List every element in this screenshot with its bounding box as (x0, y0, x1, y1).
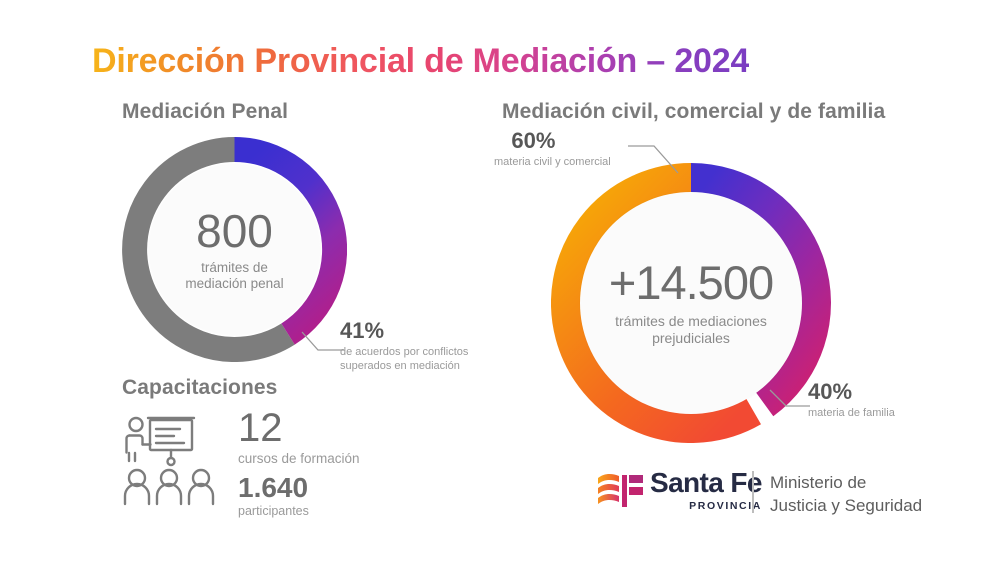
donut-civil-value: +14.500 (609, 259, 773, 306)
capacitaciones-block: 12 cursos de formación 1.640 participant… (120, 412, 420, 517)
provincia-text: PROVINCIA (650, 500, 762, 512)
ministry-line-1: Ministerio de (770, 472, 922, 495)
santa-fe-logo: Santa Fe PROVINCIA Ministerio de Justici… (596, 468, 926, 518)
participants-value: 1.640 (238, 474, 360, 502)
callout-41-desc: de acuerdos por conflictos superados en … (340, 346, 468, 374)
donut-chart-penal: 800 trámites de mediación penal (122, 137, 347, 362)
callout-60-pct: 60% (494, 130, 611, 152)
logo-divider (752, 471, 754, 513)
teacher-whiteboard-icon (127, 418, 195, 465)
three-people-icon (125, 470, 213, 504)
callout-60: 60% materia civil y comercial (494, 130, 611, 170)
capacitaciones-icons (120, 412, 225, 512)
section-heading-capacitaciones: Capacitaciones (122, 376, 277, 400)
donut-penal-label-l2: mediación penal (185, 276, 283, 292)
santa-fe-text: Santa Fe (650, 469, 762, 497)
callout-41-desc-l2: superados en mediación (340, 360, 468, 374)
courses-value: 12 (238, 408, 360, 448)
donut-civil-center: +14.500 trámites de mediaciones prejudic… (580, 192, 802, 414)
donut-civil-label-l1: trámites de mediaciones (615, 313, 767, 330)
callout-40: 40% materia de familia (808, 381, 895, 421)
donut-civil-label: trámites de mediaciones prejudiciales (615, 313, 767, 346)
callout-41: 41% de acuerdos por conflictos superados… (340, 320, 468, 374)
participants-label: participantes (238, 504, 360, 518)
capacitaciones-stats: 12 cursos de formación 1.640 participant… (238, 408, 360, 518)
leader-line-40 (768, 388, 812, 412)
callout-40-desc: materia de familia (808, 407, 895, 421)
page-title: Dirección Provincial de Mediación – 2024 (92, 42, 749, 81)
leader-line-60 (628, 140, 680, 176)
ministry-line-2: Justicia y Seguridad (770, 495, 922, 518)
donut-penal-center: 800 trámites de mediación penal (149, 164, 320, 335)
callout-41-desc-l1: de acuerdos por conflictos (340, 346, 468, 360)
courses-label: cursos de formación (238, 451, 360, 466)
santa-fe-wordmark: Santa Fe PROVINCIA (650, 469, 762, 512)
infographic-canvas: Dirección Provincial de Mediación – 2024… (0, 0, 1000, 563)
callout-60-desc: materia civil y comercial (494, 156, 611, 170)
callout-40-pct: 40% (808, 381, 895, 403)
section-heading-penal: Mediación Penal (122, 100, 288, 124)
donut-civil-label-l2: prejudiciales (615, 330, 767, 347)
section-heading-civil: Mediación civil, comercial y de familia (502, 100, 885, 124)
donut-penal-value: 800 (196, 208, 273, 254)
donut-penal-label: trámites de mediación penal (185, 260, 283, 292)
donut-penal-label-l1: trámites de (185, 260, 283, 276)
ministry-text: Ministerio de Justicia y Seguridad (770, 472, 922, 518)
callout-41-pct: 41% (340, 320, 468, 342)
santa-fe-flag-mark-icon (596, 472, 644, 510)
